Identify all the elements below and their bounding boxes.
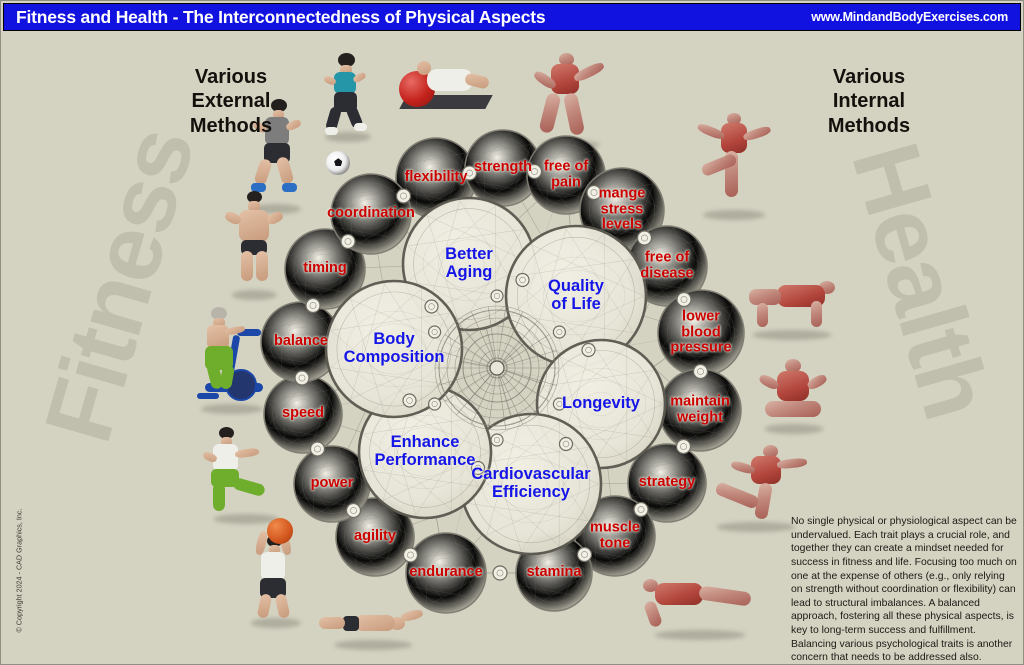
poster-canvas: Fitness Health (0, 0, 1024, 665)
inner-node (326, 281, 462, 417)
website-url[interactable]: www.MindandBodyExercises.com (811, 10, 1020, 24)
watermark-fitness: Fitness (24, 117, 217, 453)
interconnectedness-network-diagram: flexibilitystrengthfree of painmange str… (201, 96, 761, 626)
figure-anatomy-seated-meditation (753, 359, 835, 431)
outer-node (406, 533, 486, 613)
outer-node (659, 369, 741, 451)
outer-node (658, 290, 744, 376)
network-svg (201, 96, 761, 626)
heading-internal-methods: Various Internal Methods (779, 65, 959, 138)
copyright-notice: © Copyright 2024 - CAD Graphics, Inc. (15, 506, 24, 636)
page-title: Fitness and Health - The Interconnectedn… (4, 7, 545, 28)
watermark-health: Health (829, 132, 1010, 430)
title-bar: Fitness and Health - The Interconnectedn… (3, 3, 1021, 31)
summary-paragraph: No single physical or physiological aspe… (791, 515, 1017, 665)
outer-node (264, 375, 342, 453)
